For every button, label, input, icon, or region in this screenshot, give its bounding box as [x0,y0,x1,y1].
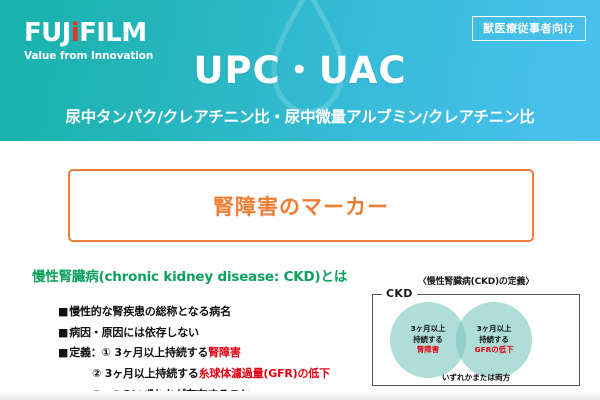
fujifilm-wordmark: FUJiFILM [24,20,164,46]
venn-note: いずれかまたは両方 [372,372,580,383]
definition-label: 定義： [69,346,101,359]
ckd-definition-diagram: 〈慢性腎臓病(CKD)の定義〉 CKD 3ヶ月以上 持続する 腎障害 3ヶ月以上… [358,274,594,392]
venn-left-line2: 持続する [413,335,443,346]
definition-item2-highlight: 糸球体濾過量(GFR)の低下 [199,367,330,380]
header-banner: FUJiFILM Value from Innovation 獣医療従事者向け … [0,0,600,141]
definition-item1-highlight: 腎障害 [208,346,240,359]
logo-accent-i: i [71,18,79,48]
venn-right-line2: 持続する [479,335,509,346]
definition-item1-number: ① [102,346,111,359]
venn-left-line3: 腎障害 [417,345,439,356]
ckd-section-heading: 慢性腎臓病(chronic kidney disease: CKD)とは [32,265,347,285]
logo-part-fuj: FUJ [24,18,71,48]
venn-circle-gfr-decline: 3ヶ月以上 持続する GFRの低下 [456,302,532,378]
audience-badge: 獣医療従事者向け [472,16,586,41]
venn-left-line1: 3ヶ月以上 [411,324,446,335]
bullet-square-icon: ■ [58,326,68,339]
bullet-square-icon: ■ [58,346,68,359]
marker-callout-text: 腎障害のマーカー [213,191,389,221]
page-subtitle: 尿中タンパク/クレアチニン比・尿中微量アルブミン/クレアチニン比 [0,105,600,127]
venn-right-line1: 3ヶ月以上 [477,324,512,335]
venn-right-line3: GFRの低下 [475,345,514,356]
bottom-band [0,391,600,400]
definition-item1-text: 3ヶ月以上持続する [111,346,208,359]
definition-item2-text: 3ヶ月以上持続する [101,367,198,380]
list-item: ■病因・原因には依存しない [58,323,330,344]
ckd-bullet-list: ■慢性的な腎疾患の総称となる病名 ■病因・原因には依存しない ■定義：① 3ヶ月… [58,302,330,400]
venn-circle-kidney-damage: 3ヶ月以上 持続する 腎障害 [390,302,466,378]
slide-page: FUJiFILM Value from Innovation 獣医療従事者向け … [0,0,600,400]
list-item: ■慢性的な腎疾患の総称となる病名 [58,302,330,323]
bullet-square-icon: ■ [58,305,68,318]
definition-line-1: ■定義：① 3ヶ月以上持続する腎障害 [58,343,330,364]
list-item-text: 慢性的な腎疾患の総称となる病名 [69,305,231,318]
marker-callout-box: 腎障害のマーカー [68,169,534,242]
definition-item2-number: ② [92,367,101,380]
diagram-caption: 〈慢性腎臓病(CKD)の定義〉 [358,274,594,287]
definition-line-2: ② 3ヶ月以上持続する糸球体濾過量(GFR)の低下 [58,364,330,385]
logo-part-film: FILM [79,18,146,48]
ckd-frame-label: CKD [382,287,417,300]
list-item-text: 病因・原因には依存しない [69,326,199,339]
page-title: UPC・UAC [0,52,600,89]
